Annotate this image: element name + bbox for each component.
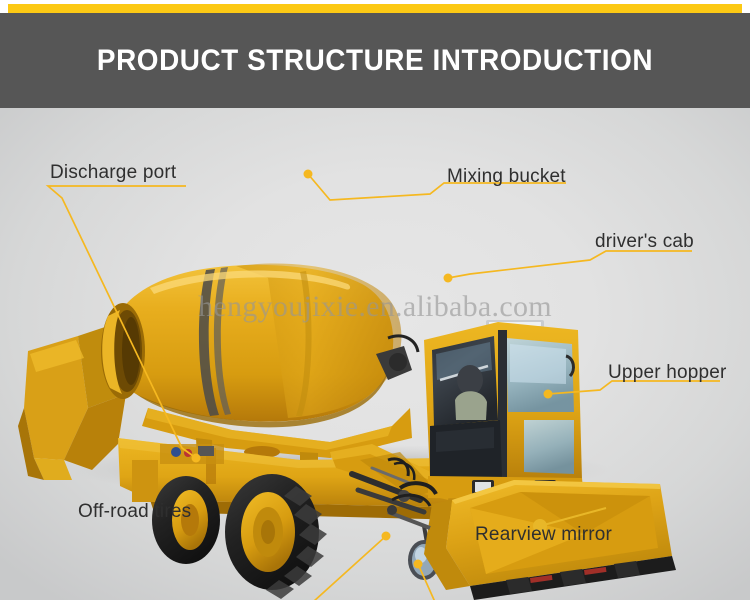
leader-discharge-port bbox=[48, 186, 196, 458]
anchor-rearview-mirror bbox=[414, 560, 423, 569]
callout-label-rearview-mirror: Rearview mirror bbox=[475, 524, 612, 546]
callout-label-mixing-bucket: Mixing bucket bbox=[447, 166, 566, 188]
leader-drivers-cab bbox=[448, 251, 692, 278]
anchor-offroad-tires bbox=[382, 532, 391, 541]
callout-label-discharge-port: Discharge port bbox=[50, 162, 176, 184]
anchor-discharge-port bbox=[192, 454, 201, 463]
page-title: PRODUCT STRUCTURE INTRODUCTION bbox=[97, 44, 653, 78]
anchor-mixing-bucket bbox=[304, 170, 313, 179]
anchor-upper-hopper bbox=[544, 390, 553, 399]
anchor-drivers-cab bbox=[444, 274, 453, 283]
leader-rearview-mirror bbox=[418, 564, 610, 600]
leader-offroad-tires bbox=[68, 536, 386, 600]
product-structure-slide: PRODUCT STRUCTURE INTRODUCTION bbox=[0, 0, 750, 600]
callout-label-drivers-cab: driver's cab bbox=[595, 231, 694, 253]
callout-label-offroad-tires: Off-road tires bbox=[78, 501, 191, 523]
header-accent-stripe bbox=[8, 4, 742, 13]
callout-label-upper-hopper: Upper hopper bbox=[608, 362, 727, 384]
header-banner: PRODUCT STRUCTURE INTRODUCTION bbox=[0, 13, 750, 108]
